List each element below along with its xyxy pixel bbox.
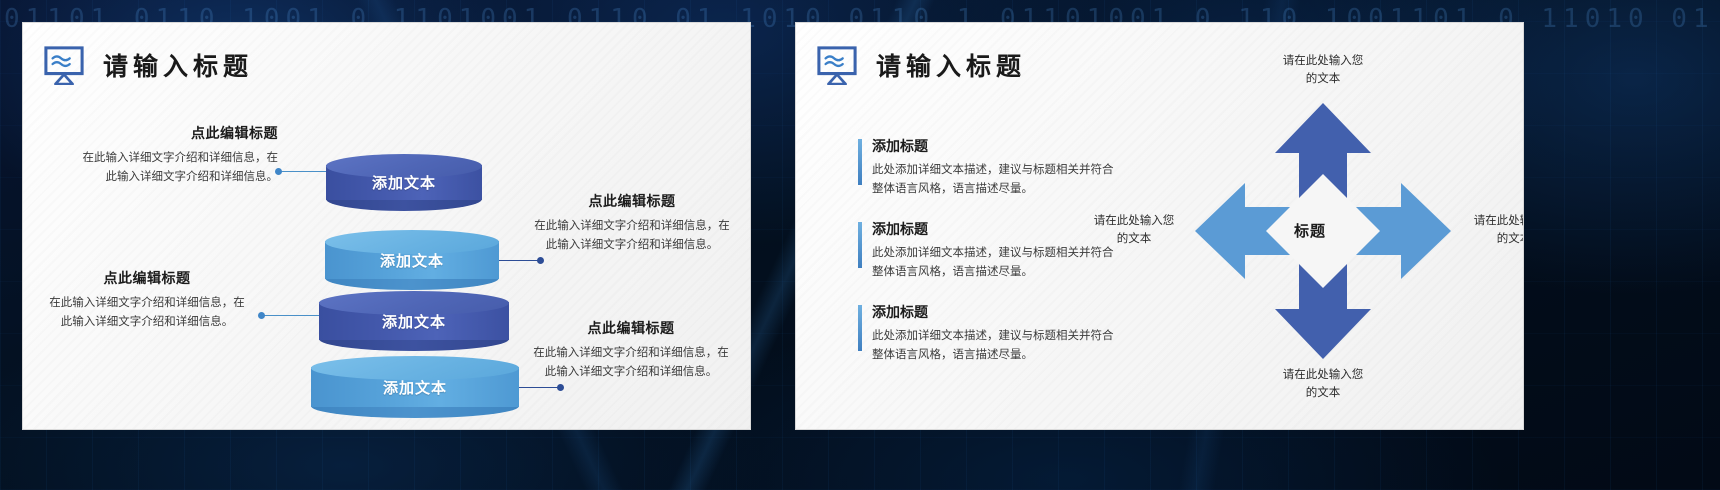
text-block-3-body-line2: 整体语言风格，语言描述尽量。 [872,346,1133,365]
connector-dot-4-outer [557,384,564,391]
arrow-label-left-line1: 请在此处输入您 [1076,213,1192,231]
arrow-label-left-line2: 的文本 [1076,231,1192,249]
callout-1-body-line2: 此输入详细文字介绍和详细信息。 [53,168,278,187]
text-block-3: 添加标题 此处添加详细文本描述，建议与标题相关并符合 整体语言风格，语言描述尽量… [858,302,1133,364]
callout-2-body-line2: 此输入详细文字介绍和详细信息。 [521,236,743,255]
text-block-2-accent-bar [858,222,862,268]
connector-line-3 [261,315,327,316]
text-block-3-heading: 添加标题 [872,302,1133,322]
callout-4-body-line1: 在此输入详细文字介绍和详细信息，在 [520,344,742,363]
arrow-label-bottom: 请在此处输入您 的文本 [1248,367,1398,403]
text-block-3-body-line1: 此处添加详细文本描述，建议与标题相关并符合 [872,327,1133,346]
text-block-1-body-line2: 整体语言风格，语言描述尽量。 [872,180,1133,199]
callout-1-body-line1: 在此输入详细文字介绍和详细信息，在 [53,149,278,168]
text-block-3-accent-bar [858,305,862,351]
arrow-label-top-line1: 请在此处输入您 [1248,53,1398,71]
text-block-1-accent-bar [858,139,862,185]
cylinder-2-label: 添加文本 [380,250,444,271]
callout-3-body-line2: 此输入详细文字介绍和详细信息。 [33,313,261,332]
cylinder-2[interactable]: 添加文本 [325,230,499,290]
cylinder-1-label: 添加文本 [372,172,436,193]
cylinder-1[interactable]: 添加文本 [326,154,482,211]
cylinder-3[interactable]: 添加文本 [319,291,509,351]
arrow-label-bottom-line2: 的文本 [1248,385,1398,403]
callout-1: 点此编辑标题 在此输入详细文字介绍和详细信息，在 此输入详细文字介绍和详细信息。 [53,123,278,187]
arrow-label-left: 请在此处输入您 的文本 [1076,213,1192,249]
arrow-label-top-line2: 的文本 [1248,71,1398,89]
arrow-center-label: 标题 [1294,220,1326,241]
callout-4-heading: 点此编辑标题 [520,318,742,338]
text-block-1-heading: 添加标题 [872,136,1133,156]
arrow-label-right-line2: 的文本 [1456,231,1524,249]
arrow-label-top: 请在此处输入您 的文本 [1248,53,1398,89]
callout-4-body-line2: 此输入详细文字介绍和详细信息。 [520,363,742,382]
text-block-2-body-line2: 整体语言风格，语言描述尽量。 [872,263,1133,282]
callout-1-heading: 点此编辑标题 [53,123,278,143]
cylinder-3-label: 添加文本 [382,311,446,332]
callout-2-body-line1: 在此输入详细文字介绍和详细信息，在 [521,217,743,236]
cylinder-4-label: 添加文本 [383,377,447,398]
arrow-label-right: 请在此处输入您 的文本 [1456,213,1524,249]
text-block-1-body-line1: 此处添加详细文本描述，建议与标题相关并符合 [872,161,1133,180]
cylinder-4[interactable]: 添加文本 [311,356,519,418]
callout-3: 点此编辑标题 在此输入详细文字介绍和详细信息，在 此输入详细文字介绍和详细信息。 [33,268,261,332]
presentation-screen-icon [816,45,858,85]
slide-right-header: 请输入标题 [816,45,1026,85]
arrow-label-right-line1: 请在此处输入您 [1456,213,1524,231]
connector-dot-2-outer [537,257,544,264]
slide-right[interactable]: 请输入标题 添加标题 此处添加详细文本描述，建议与标题相关并符合 整体语言风格，… [795,22,1524,430]
callout-3-heading: 点此编辑标题 [33,268,261,288]
callout-2: 点此编辑标题 在此输入详细文字介绍和详细信息，在 此输入详细文字介绍和详细信息。 [521,191,743,255]
text-block-1: 添加标题 此处添加详细文本描述，建议与标题相关并符合 整体语言风格，语言描述尽量… [858,136,1133,198]
slide-left[interactable]: 请输入标题 添加文本 添加文本 [22,22,751,430]
callout-3-body-line1: 在此输入详细文字介绍和详细信息，在 [33,294,261,313]
four-direction-arrow-diagram: 标题 请在此处输入您 的文本 请在此处输入您 的文本 请在此处输入您 的文本 请… [1126,41,1521,421]
slide-right-title: 请输入标题 [876,47,1026,83]
callout-2-heading: 点此编辑标题 [521,191,743,211]
arrow-label-bottom-line1: 请在此处输入您 [1248,367,1398,385]
callout-4: 点此编辑标题 在此输入详细文字介绍和详细信息，在 此输入详细文字介绍和详细信息。 [520,318,742,382]
